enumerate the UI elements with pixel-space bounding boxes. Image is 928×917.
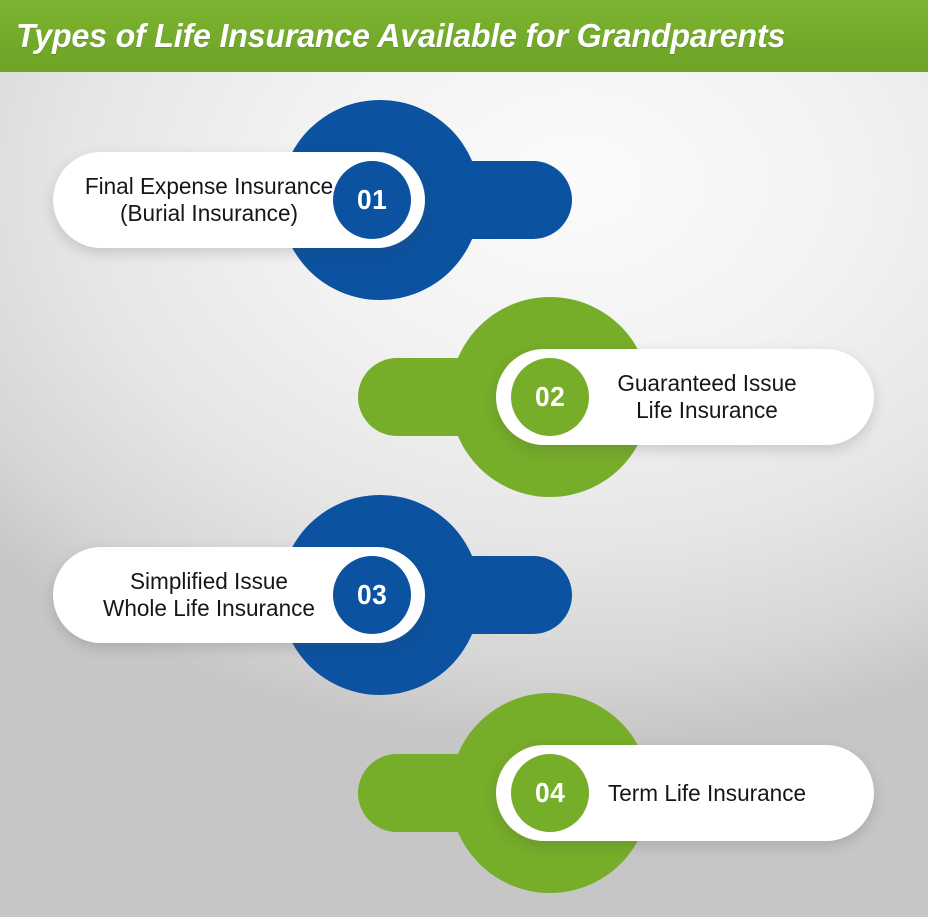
item-tab — [422, 556, 572, 634]
item-number-badge: 03 — [333, 556, 411, 634]
item-number: 02 — [535, 381, 565, 413]
item-tab — [358, 754, 508, 832]
item-number: 04 — [535, 777, 565, 809]
page-title: Types of Life Insurance Available for Gr… — [16, 17, 785, 55]
item-number-badge: 01 — [333, 161, 411, 239]
item-number-badge: 04 — [511, 754, 589, 832]
item-tab — [422, 161, 572, 239]
list-item[interactable]: Simplified Issue Whole Life Insurance 03 — [0, 480, 928, 710]
item-number-badge: 02 — [511, 358, 589, 436]
item-label: Simplified Issue Whole Life Insurance — [80, 568, 337, 621]
item-tab — [358, 358, 508, 436]
list-item[interactable]: Term Life Insurance 04 — [0, 678, 928, 908]
item-label: Guaranteed Issue Life Insurance — [587, 370, 827, 423]
item-number: 03 — [357, 579, 387, 611]
item-number: 01 — [357, 184, 387, 216]
list-item[interactable]: Guaranteed Issue Life Insurance 02 — [0, 282, 928, 512]
header-bar: Types of Life Insurance Available for Gr… — [0, 0, 928, 72]
list-item[interactable]: Final Expense Insurance (Burial Insuranc… — [0, 85, 928, 315]
item-label: Term Life Insurance — [587, 780, 827, 807]
infographic-canvas: Types of Life Insurance Available for Gr… — [0, 0, 928, 917]
item-label: Final Expense Insurance (Burial Insuranc… — [80, 173, 337, 226]
